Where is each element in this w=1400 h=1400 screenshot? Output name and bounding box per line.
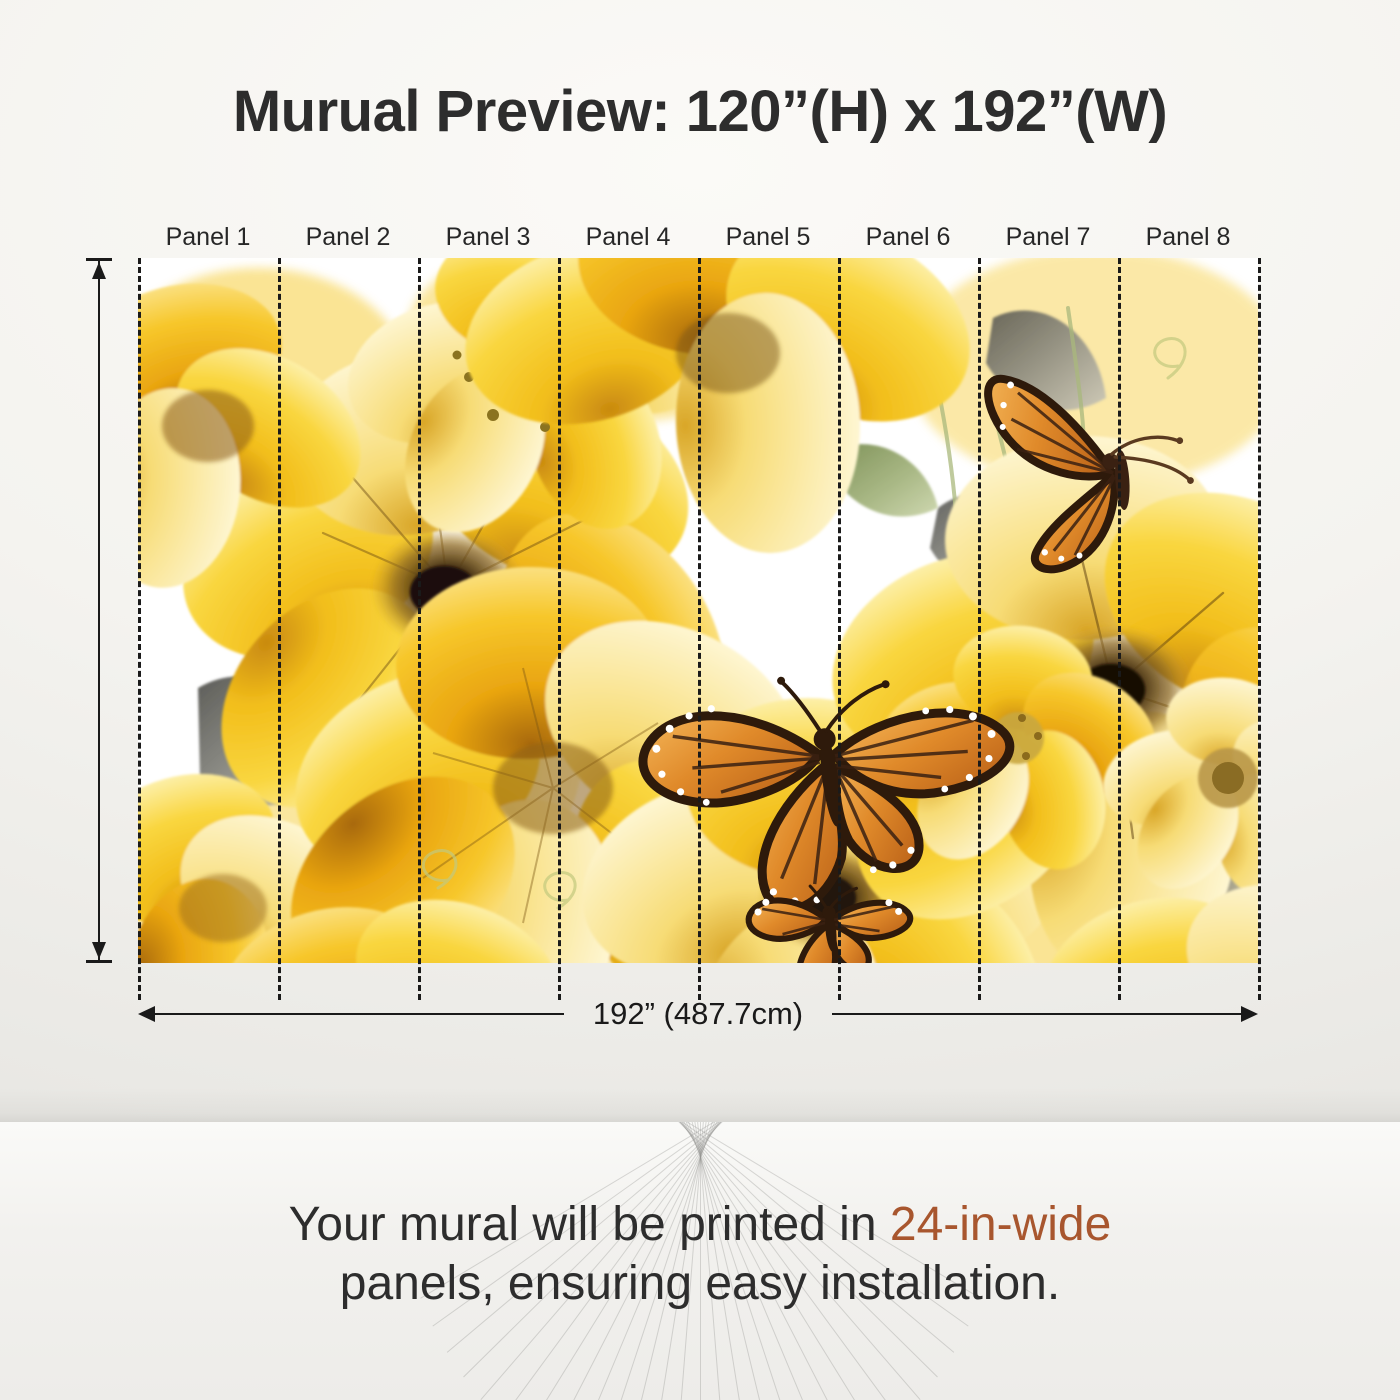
panel-label-3: Panel 3 [418,218,558,256]
panel-divider-1 [278,258,281,1000]
width-dimension-arrow: 192” (487.7cm) [138,1006,1258,1022]
height-arrow-head-up [92,262,106,279]
panel-divider-5 [838,258,841,1000]
width-dimension-label: 192” (487.7cm) [579,996,817,1032]
caption-line-1: Your mural will be printed in 24-in-wide [0,1196,1400,1255]
height-arrow-line [98,258,100,963]
caption-accent-text: 24-in-wide [890,1198,1111,1251]
width-arrow-head-right [1241,1006,1258,1022]
width-arrow-line-right [832,1013,1244,1015]
height-tick-bottom [86,960,112,963]
panel-divider-left-edge [138,258,141,1000]
panel-divider-2 [418,258,421,1000]
panel-divider-right-edge [1258,258,1261,1000]
panel-divider-6 [978,258,981,1000]
caption-text: Your mural will be printed in 24-in-wide… [0,1196,1400,1313]
panel-divider-4 [698,258,701,1000]
caption-line-1-prefix: Your mural will be printed in [289,1198,890,1251]
page-title: Murual Preview: 120”(H) x 192”(W) [0,78,1400,145]
panel-label-8: Panel 8 [1118,218,1258,256]
height-dimension-arrow [92,258,106,963]
panel-divider-7 [1118,258,1121,1000]
panel-label-7: Panel 7 [978,218,1118,256]
panel-label-2: Panel 2 [278,218,418,256]
height-arrow-head-down [92,942,106,959]
panel-label-row: Panel 1 Panel 2 Panel 3 Panel 4 Panel 5 … [138,218,1258,256]
panel-label-4: Panel 4 [558,218,698,256]
width-arrow-line-left [152,1013,564,1015]
panel-label-5: Panel 5 [698,218,838,256]
caption-line-2: panels, ensuring easy installation. [0,1255,1400,1314]
panel-divider-3 [558,258,561,1000]
panel-label-1: Panel 1 [138,218,278,256]
panel-label-6: Panel 6 [838,218,978,256]
